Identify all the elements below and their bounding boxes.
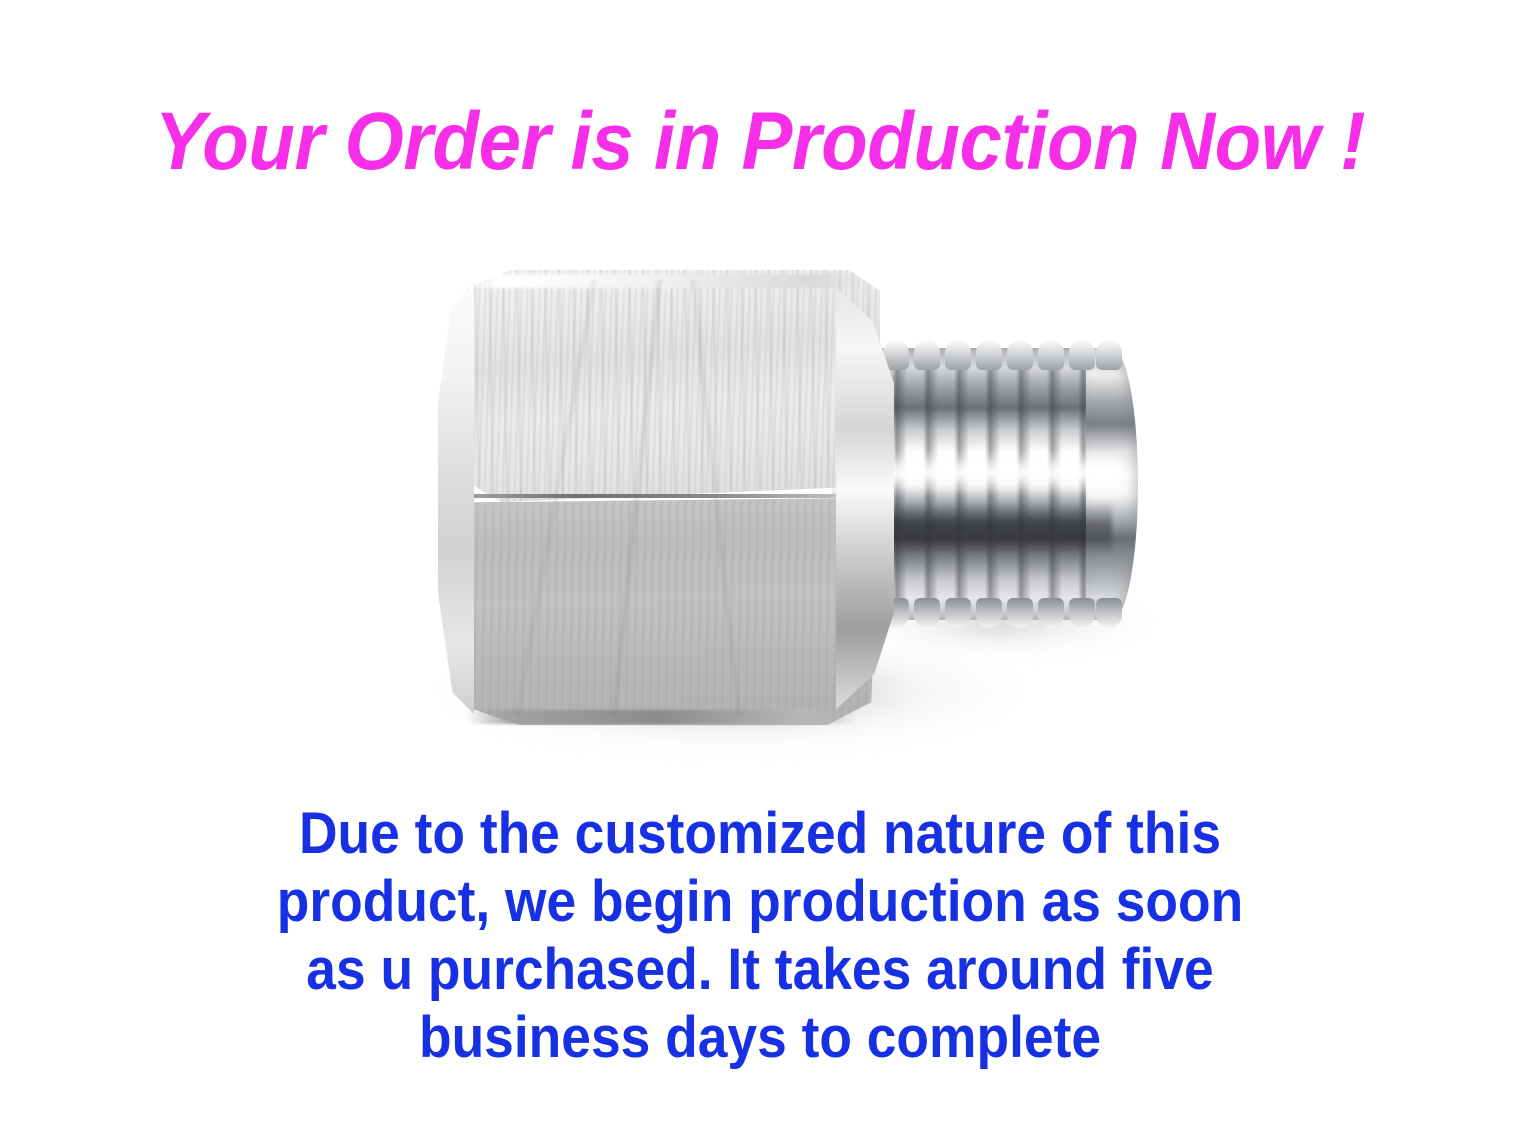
thread-crests-top xyxy=(850,340,1126,370)
product-image-hex-adapter xyxy=(380,240,1200,780)
notice-line-1: Due to the customized nature of this xyxy=(208,800,1312,868)
production-notice-text: Due to the customized nature of this pro… xyxy=(208,800,1312,1072)
notice-line-4: business days to complete xyxy=(208,1004,1312,1072)
notice-line-2: product, we begin production as soon xyxy=(208,868,1312,936)
hex-surface-scratches xyxy=(450,280,870,716)
hex-body xyxy=(440,270,880,725)
page-title: Your Order is in Production Now ! xyxy=(53,96,1467,188)
notice-line-3: as u purchased. It takes around five xyxy=(208,936,1312,1004)
